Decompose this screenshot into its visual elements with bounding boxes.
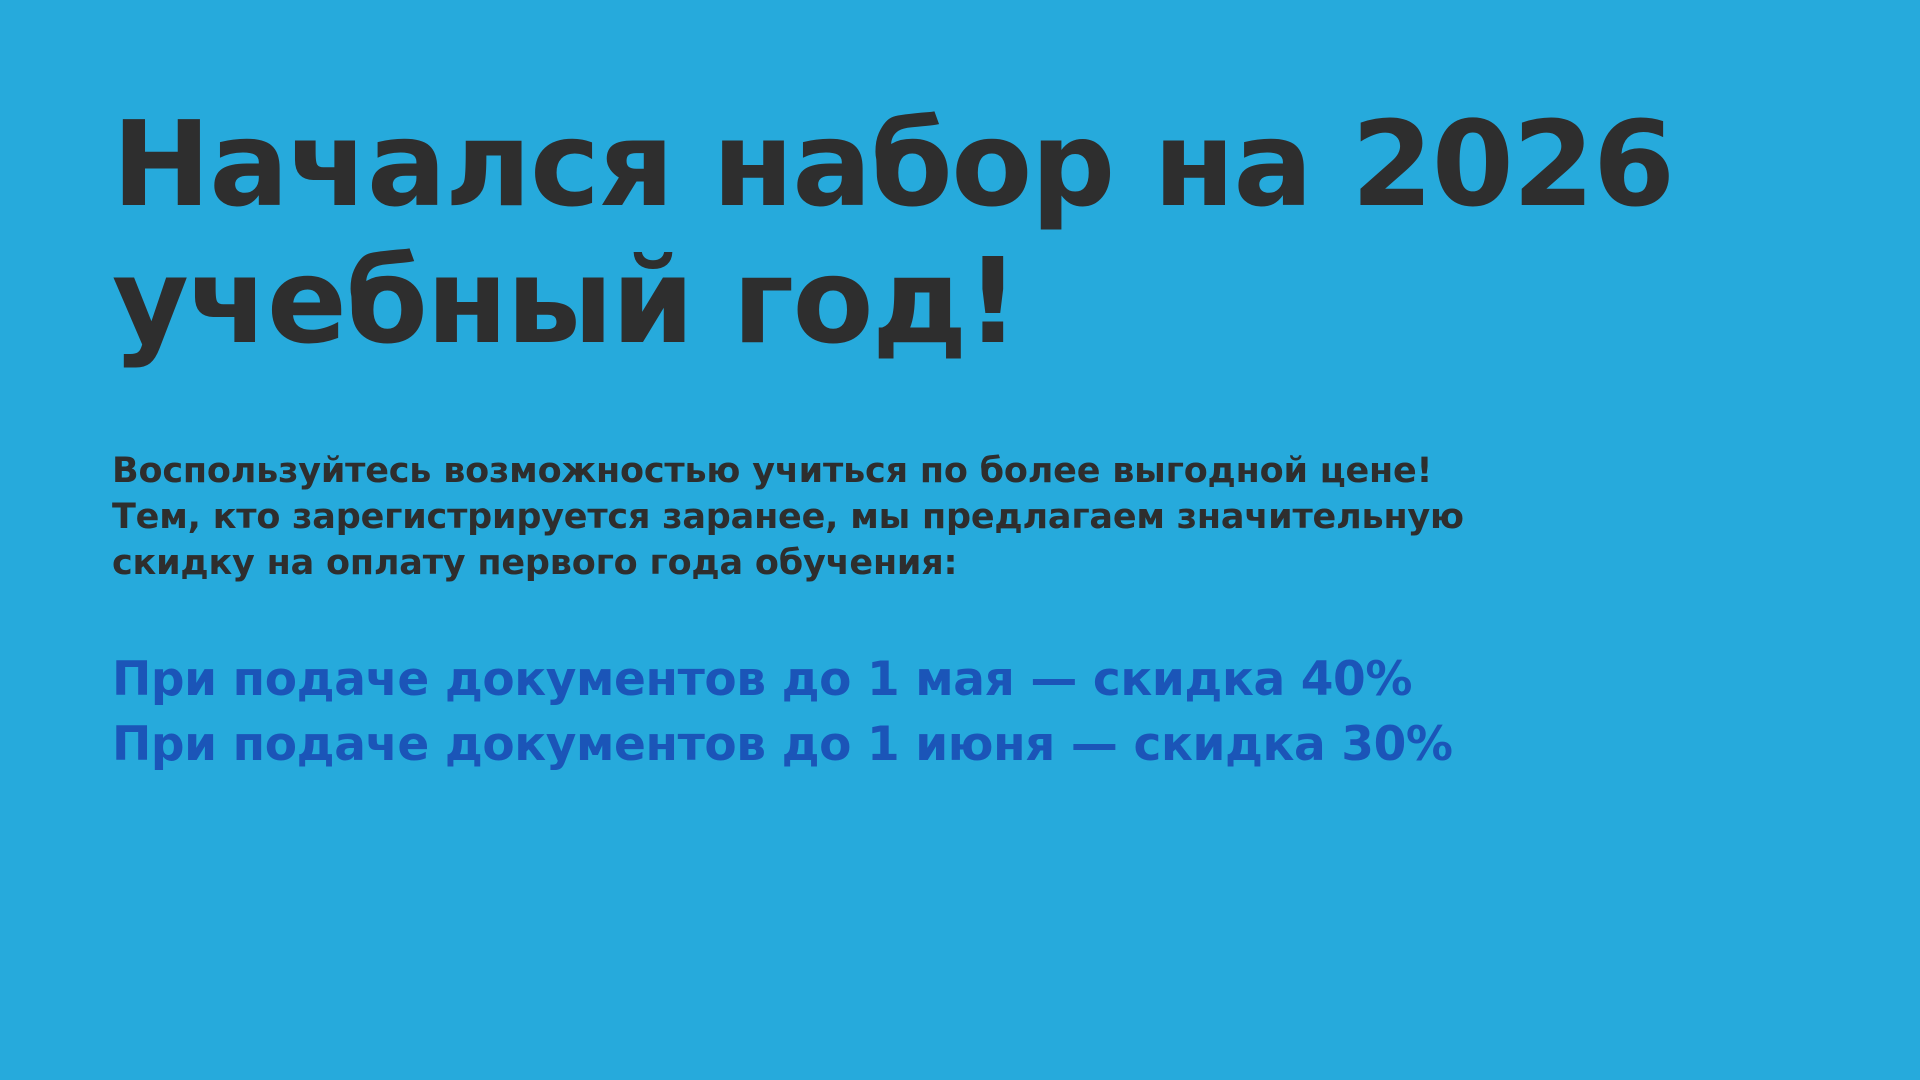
- discount-offers: При подаче документов до 1 мая — скидка …: [112, 586, 1832, 778]
- intro-paragraph: Воспользуйтесь возможностью учиться по б…: [112, 370, 1832, 587]
- intro-paragraph-line-3: скидку на оплату первого года обучения:: [112, 540, 1832, 586]
- intro-paragraph-line-2: Тем, кто зарегистрируется заранее, мы пр…: [112, 494, 1832, 540]
- slide-content: Начался набор на 2026 учебный год! Воспо…: [112, 96, 1832, 778]
- discount-offer-june: При подаче документов до 1 июня — скидка…: [112, 713, 1832, 778]
- discount-offer-may: При подаче документов до 1 мая — скидка …: [112, 648, 1832, 713]
- page-title: Начался набор на 2026 учебный год!: [112, 96, 1832, 370]
- intro-paragraph-line-1: Воспользуйтесь возможностью учиться по б…: [112, 448, 1832, 494]
- promo-slide: Начался набор на 2026 учебный год! Воспо…: [0, 0, 1920, 1080]
